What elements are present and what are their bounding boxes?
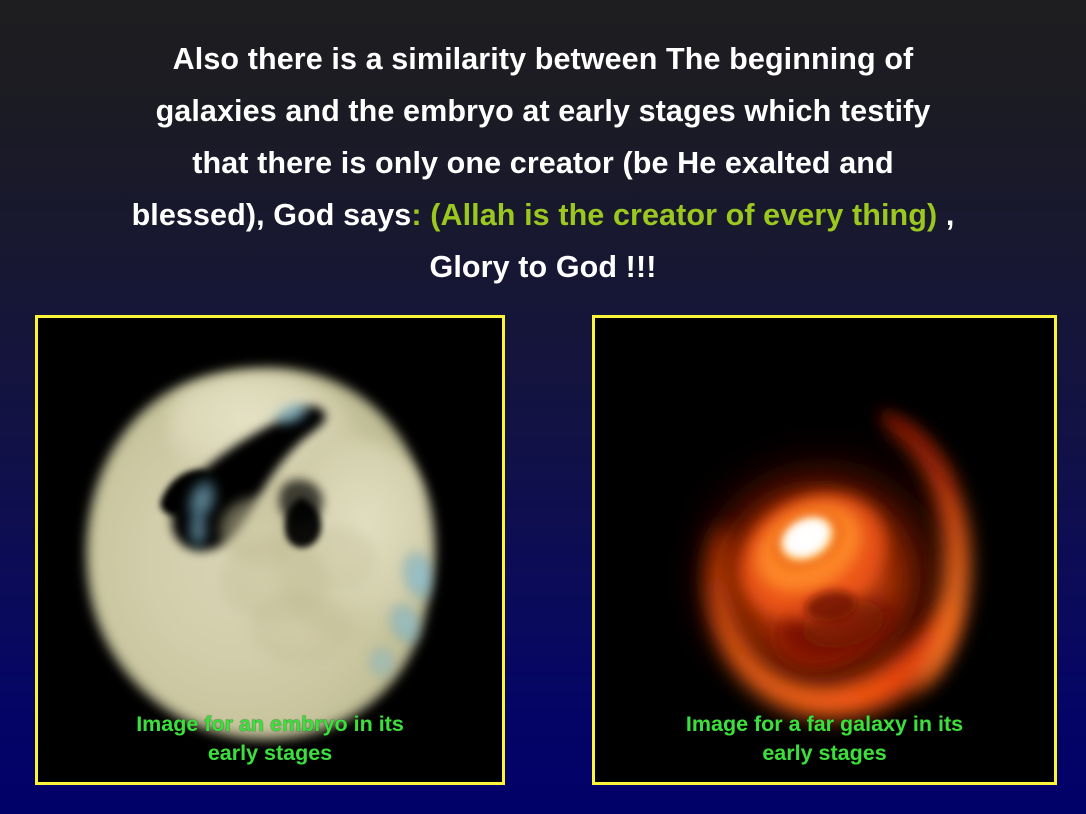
- figure-embryo: Image for an embryo in its early stages: [35, 315, 505, 785]
- heading-line-1: Also there is a similarity between The b…: [28, 33, 1058, 85]
- heading-line-2: galaxies and the embryo at early stages …: [28, 85, 1058, 137]
- figure-galaxy: Image for a far galaxy in its early stag…: [592, 315, 1057, 785]
- heading-quran-quote: : (Allah is the creator of every thing): [411, 198, 937, 232]
- galaxy-caption: Image for a far galaxy in its early stag…: [595, 710, 1054, 768]
- heading-line-4: blessed), God says: (Allah is the creato…: [28, 189, 1058, 241]
- slide-canvas: Also there is a similarity between The b…: [0, 0, 1086, 814]
- slide-heading-text: Also there is a similarity between The b…: [0, 33, 1086, 293]
- heading-line-5: Glory to God !!!: [28, 241, 1058, 293]
- embryo-caption-line-1: Image for an embryo in its: [38, 710, 502, 739]
- galaxy-caption-line-2: early stages: [595, 739, 1054, 768]
- galaxy-caption-line-1: Image for a far galaxy in its: [595, 710, 1054, 739]
- heading-line-4-suffix: ,: [937, 198, 954, 232]
- embryo-caption: Image for an embryo in its early stages: [38, 710, 502, 768]
- heading-line-3: that there is only one creator (be He ex…: [28, 137, 1058, 189]
- embryo-caption-line-2: early stages: [38, 739, 502, 768]
- heading-line-4-prefix: blessed), God says: [132, 198, 412, 232]
